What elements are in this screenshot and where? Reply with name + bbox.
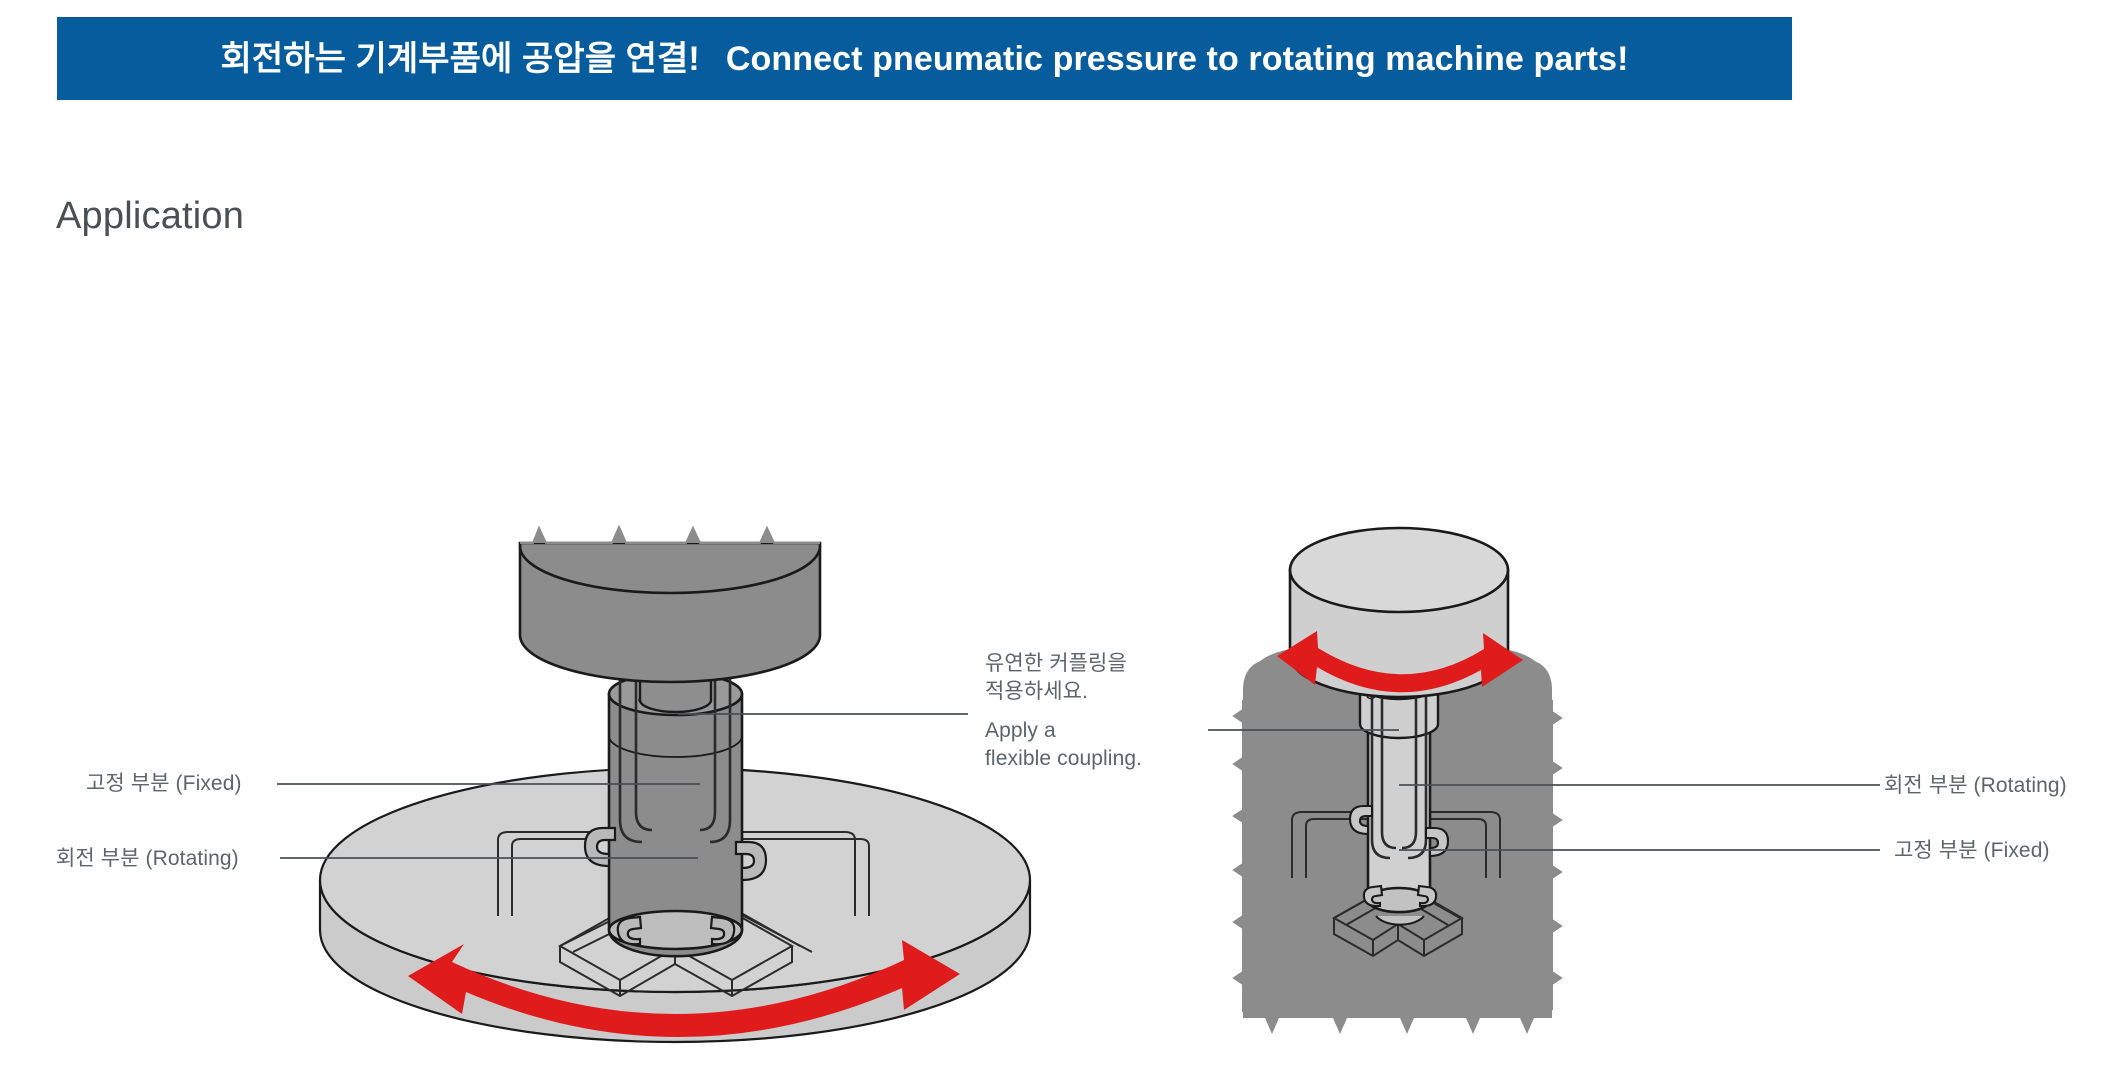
left-rotary-joint-body — [609, 673, 742, 956]
label-flexible-coupling-note: 유연한 커플링을 적용하세요. Apply a flexible couplin… — [985, 650, 1215, 773]
label-right-rotating: 회전 부분 (Rotating) — [1884, 772, 2067, 800]
label-left-rotating: 회전 부분 (Rotating) — [56, 845, 239, 873]
page-root: 회전하는 기계부품에 공압을 연결!Connect pneumatic pres… — [0, 0, 2126, 1084]
coupling-note-line-2: 적용하세요. — [985, 678, 1215, 706]
label-left-fixed: 고정 부분 (Fixed) — [86, 770, 242, 798]
application-illustration — [0, 0, 2126, 1084]
label-right-fixed: 고정 부분 (Fixed) — [1894, 837, 2050, 865]
left-figure — [277, 527, 1030, 1042]
left-motor-cylinder — [520, 527, 820, 682]
coupling-note-line-3: Apply a — [985, 717, 1215, 745]
coupling-note-line-1: 유연한 커플링을 — [985, 650, 1215, 678]
right-figure — [1208, 528, 1880, 1034]
coupling-note-line-4: flexible coupling. — [985, 745, 1215, 773]
